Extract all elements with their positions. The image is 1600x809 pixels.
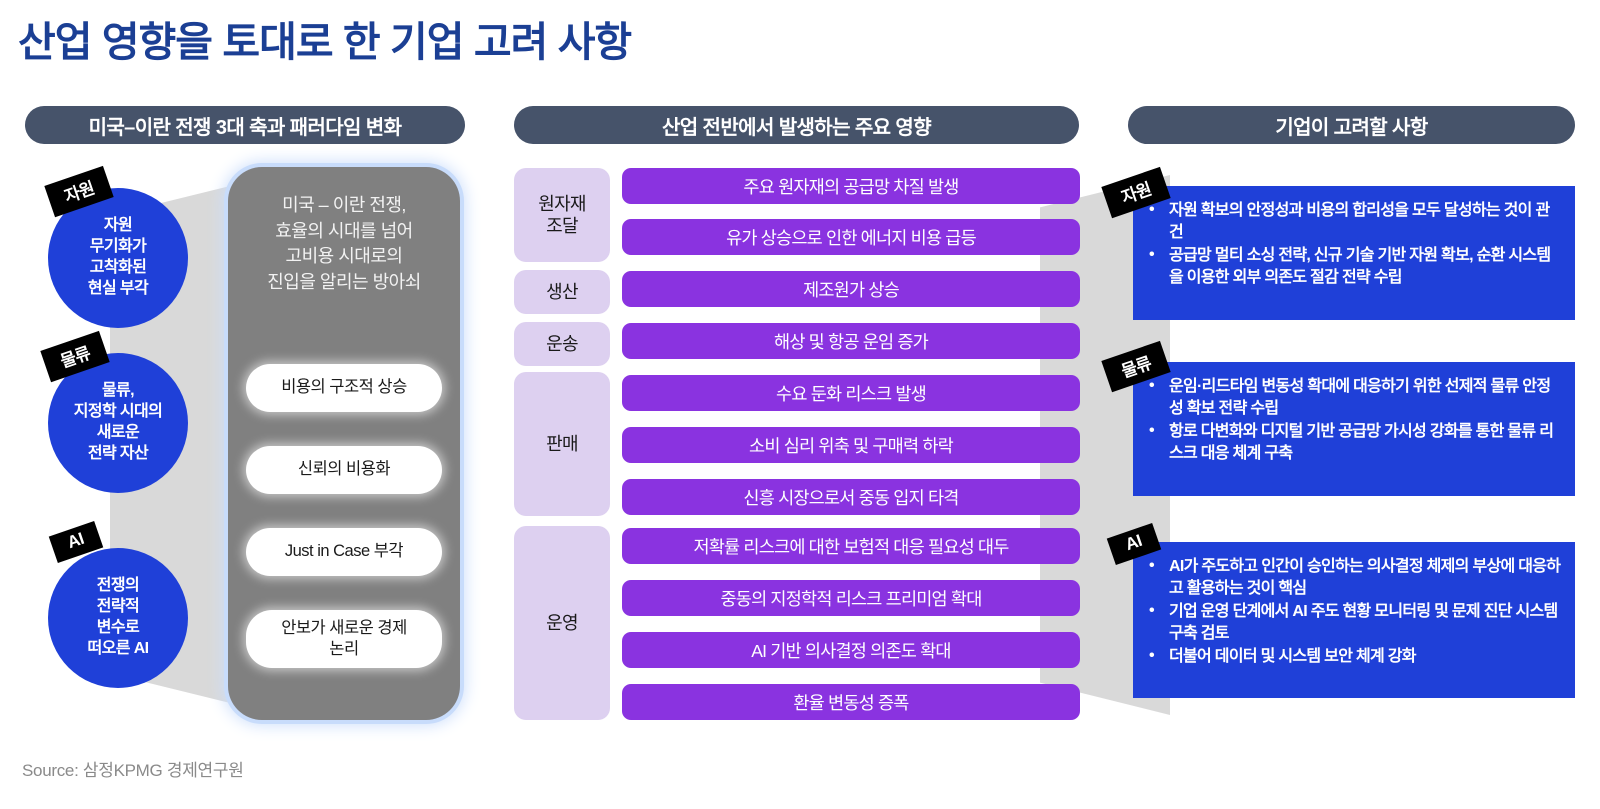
consideration-bullet: 자원 확보의 안정성과 비용의 합리성을 모두 달성하는 것이 관건 <box>1169 200 1563 243</box>
header-pill-right: 기업이 고려할 사항 <box>1128 106 1575 144</box>
consideration-bullet: 기업 운영 단계에서 AI 주도 현황 모니터링 및 문제 진단 시스템 구축 … <box>1169 601 1563 644</box>
consideration-block: AI가 주도하고 인간이 승인하는 의사결정 체제의 부상에 대응하고 활용하는… <box>1133 542 1575 698</box>
consideration-bullet: 항로 다변화와 디지털 기반 공급망 가시성 강화를 통한 물류 리스크 대응 … <box>1169 421 1563 464</box>
axis-circle-ai: 전쟁의 전략적 변수로 떠오른 AI <box>48 548 188 688</box>
center-pill-2: Just in Case 부각 <box>246 528 442 576</box>
consideration-bullet: 운임·리드타임 변동성 확대에 대응하기 위한 선제적 물류 안정성 확보 전략… <box>1169 376 1563 419</box>
infographic-stage: 산업 영향을 토대로 한 기업 고려 사항 미국–이란 전쟁 3대 축과 패러다… <box>0 0 1600 809</box>
impact-category-chip: 운영 <box>514 526 610 720</box>
page-title: 산업 영향을 토대로 한 기업 고려 사항 <box>18 8 631 68</box>
impact-bar: 환율 변동성 증폭 <box>622 684 1080 720</box>
header-pill-left: 미국–이란 전쟁 3대 축과 패러다임 변화 <box>25 106 465 144</box>
center-summary-panel: 미국 – 이란 전쟁, 효율의 시대를 넘어 고비용 시대로의 진입을 알리는 … <box>228 167 460 720</box>
impact-category-chip: 생산 <box>514 270 610 314</box>
center-pill-3: 안보가 새로운 경제 논리 <box>246 610 442 668</box>
consideration-bullet-list: 운임·리드타임 변동성 확대에 대응하기 위한 선제적 물류 안정성 확보 전략… <box>1143 376 1563 464</box>
impact-bar: 소비 심리 위축 및 구매력 하락 <box>622 427 1080 463</box>
impact-bar: 주요 원자재의 공급망 차질 발생 <box>622 168 1080 204</box>
center-panel-headline: 미국 – 이란 전쟁, 효율의 시대를 넘어 고비용 시대로의 진입을 알리는 … <box>228 193 460 296</box>
impact-category-chip: 운송 <box>514 322 610 366</box>
center-pill-0: 비용의 구조적 상승 <box>246 364 442 412</box>
impact-bar: 저확률 리스크에 대한 보험적 대응 필요성 대두 <box>622 528 1080 564</box>
impact-category-chip: 원자재 조달 <box>514 168 610 262</box>
impact-bar: 수요 둔화 리스크 발생 <box>622 375 1080 411</box>
source-note: Source: 삼정KPMG 경제연구원 <box>22 756 244 781</box>
impact-category-chip: 판매 <box>514 372 610 516</box>
impact-bar: 해상 및 항공 운임 증가 <box>622 323 1080 359</box>
consideration-block: 운임·리드타임 변동성 확대에 대응하기 위한 선제적 물류 안정성 확보 전략… <box>1133 362 1575 496</box>
consideration-bullet-list: 자원 확보의 안정성과 비용의 합리성을 모두 달성하는 것이 관건공급망 멀티… <box>1143 200 1563 288</box>
consideration-bullet-list: AI가 주도하고 인간이 승인하는 의사결정 체제의 부상에 대응하고 활용하는… <box>1143 556 1563 668</box>
consideration-bullet: 더불어 데이터 및 시스템 보안 체계 강화 <box>1169 646 1563 668</box>
consideration-bullet: AI가 주도하고 인간이 승인하는 의사결정 체제의 부상에 대응하고 활용하는… <box>1169 556 1563 599</box>
impact-bar: 유가 상승으로 인한 에너지 비용 급등 <box>622 219 1080 255</box>
consideration-bullet: 공급망 멀티 소싱 전략, 신규 기술 기반 자원 확보, 순환 시스템을 이용… <box>1169 245 1563 288</box>
consideration-block: 자원 확보의 안정성과 비용의 합리성을 모두 달성하는 것이 관건공급망 멀티… <box>1133 186 1575 320</box>
impact-bar: 제조원가 상승 <box>622 271 1080 307</box>
impact-bar: 중동의 지정학적 리스크 프리미엄 확대 <box>622 580 1080 616</box>
impact-bar: AI 기반 의사결정 의존도 확대 <box>622 632 1080 668</box>
center-pill-1: 신뢰의 비용화 <box>246 446 442 494</box>
impact-bar: 신흥 시장으로서 중동 입지 타격 <box>622 479 1080 515</box>
header-pill-middle: 산업 전반에서 발생하는 주요 영향 <box>514 106 1079 144</box>
